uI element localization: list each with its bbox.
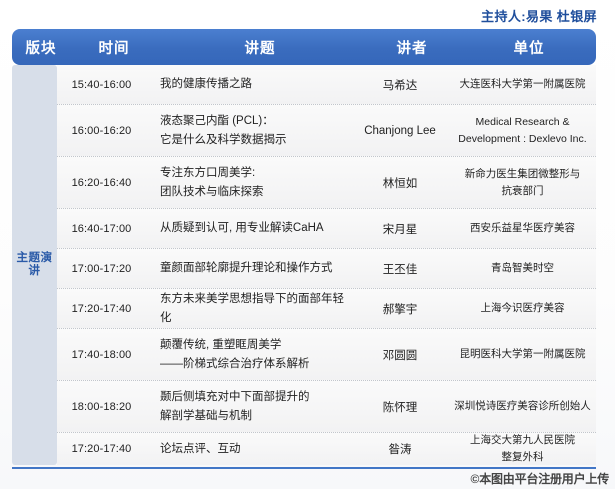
cell-speaker: Chanjong Lee xyxy=(351,125,449,137)
cell-unit-line1: 西安乐益星华医疗美容 xyxy=(449,220,596,237)
cell-speaker: 宋月星 xyxy=(351,221,449,237)
section-cell-label: 主题演讲 xyxy=(12,65,57,465)
column-header-speaker: 讲者 xyxy=(362,37,462,58)
schedule-rows: 15:40-16:00我的健康传播之路马希达大连医科大学第一附属医院16:00-… xyxy=(57,65,596,465)
cell-time: 17:00-17:20 xyxy=(57,263,146,275)
cell-unit-line2: 抗衰部门 xyxy=(449,183,596,200)
cell-unit-line2: Development : Dexlevo Inc. xyxy=(449,131,596,148)
cell-unit: 深圳悦诗医疗美容诊所创始人 xyxy=(449,398,596,415)
host-label: 主持人:易果 杜银屏 xyxy=(481,6,597,25)
cell-topic-line1: 颞后侧填充对中下面部提升的 xyxy=(160,388,351,407)
cell-time: 17:20-17:40 xyxy=(57,303,146,315)
cell-unit-line2: 整复外科 xyxy=(449,449,596,466)
cell-topic-line1: 我的健康传播之路 xyxy=(160,75,351,94)
cell-unit: Medical Research &Development : Dexlevo … xyxy=(449,114,596,148)
column-header-topic: 讲题 xyxy=(158,37,362,58)
cell-topic: 颠覆传统, 重塑眶周美学——阶梯式综合治疗体系解析 xyxy=(146,336,351,374)
cell-unit-line1: 昆明医科大学第一附属医院 xyxy=(449,346,596,363)
table-row: 17:20-17:40论坛点评、互动昝涛上海交大第九人民医院整复外科 xyxy=(57,433,596,465)
column-header-time: 时间 xyxy=(70,37,158,58)
cell-unit: 新命力医生集团微整形与抗衰部门 xyxy=(449,166,596,200)
cell-unit-line1: Medical Research & xyxy=(449,114,596,131)
column-header-section: 版块 xyxy=(12,37,70,58)
cell-topic: 论坛点评、互动 xyxy=(146,440,351,459)
cell-unit-line1: 上海交大第九人民医院 xyxy=(449,432,596,449)
cell-unit-line1: 新命力医生集团微整形与 xyxy=(449,166,596,183)
cell-unit: 上海今识医疗美容 xyxy=(449,300,596,317)
cell-topic: 从质疑到认可, 用专业解读CaHA xyxy=(146,219,351,238)
table-row: 15:40-16:00我的健康传播之路马希达大连医科大学第一附属医院 xyxy=(57,65,596,105)
cell-speaker: 昝涛 xyxy=(351,441,449,457)
cell-time: 17:40-18:00 xyxy=(57,349,146,361)
cell-topic-line1: 液态聚己内酯 (PCL)： xyxy=(160,112,351,131)
cell-topic-line2: 解剖学基础与机制 xyxy=(160,407,351,426)
table-row: 17:40-18:00颠覆传统, 重塑眶周美学——阶梯式综合治疗体系解析邓圆圆昆… xyxy=(57,329,596,381)
table-row: 18:00-18:20颞后侧填充对中下面部提升的解剖学基础与机制陈怀理深圳悦诗医… xyxy=(57,381,596,433)
cell-unit-line1: 青岛智美时空 xyxy=(449,260,596,277)
cell-topic-line1: 论坛点评、互动 xyxy=(160,440,351,459)
cell-topic-line1: 童颜面部轮廓提升理论和操作方式 xyxy=(160,259,351,278)
cell-topic: 童颜面部轮廓提升理论和操作方式 xyxy=(146,259,351,278)
cell-speaker: 郝擎宇 xyxy=(351,301,449,317)
table-row: 16:00-16:20液态聚己内酯 (PCL)：它是什么及科学数据揭示Chanj… xyxy=(57,105,596,157)
cell-time: 16:00-16:20 xyxy=(57,125,146,137)
cell-speaker: 马希达 xyxy=(351,77,449,93)
schedule-poster: 主持人:易果 杜银屏 版块 时间 讲题 讲者 单位 主题演讲 15:40-16:… xyxy=(0,0,615,489)
cell-topic-line1: 颠覆传统, 重塑眶周美学 xyxy=(160,336,351,355)
cell-topic-line2: ——阶梯式综合治疗体系解析 xyxy=(160,355,351,374)
cell-unit: 青岛智美时空 xyxy=(449,260,596,277)
cell-topic-line1: 东方未来美学思想指导下的面部年轻化 xyxy=(160,290,351,328)
cell-topic-line2: 它是什么及科学数据揭示 xyxy=(160,131,351,150)
cell-speaker: 陈怀理 xyxy=(351,399,449,415)
cell-speaker: 林恒如 xyxy=(351,175,449,191)
cell-topic: 东方未来美学思想指导下的面部年轻化 xyxy=(146,290,351,328)
table-row: 16:20-16:40专注东方口周美学:团队技术与临床探索林恒如新命力医生集团微… xyxy=(57,157,596,209)
cell-unit-line1: 上海今识医疗美容 xyxy=(449,300,596,317)
cell-time: 17:20-17:40 xyxy=(57,443,146,455)
cell-unit: 西安乐益星华医疗美容 xyxy=(449,220,596,237)
cell-topic-line2: 团队技术与临床探索 xyxy=(160,183,351,202)
cell-time: 18:00-18:20 xyxy=(57,401,146,413)
cell-unit-line1: 大连医科大学第一附属医院 xyxy=(449,76,596,93)
cell-unit-line1: 深圳悦诗医疗美容诊所创始人 xyxy=(449,398,596,415)
table-row: 17:00-17:20童颜面部轮廓提升理论和操作方式王丕佳青岛智美时空 xyxy=(57,249,596,289)
cell-topic: 专注东方口周美学:团队技术与临床探索 xyxy=(146,164,351,202)
cell-topic: 我的健康传播之路 xyxy=(146,75,351,94)
table-header-row: 版块 时间 讲题 讲者 单位 xyxy=(12,29,596,65)
table-row: 17:20-17:40东方未来美学思想指导下的面部年轻化郝擎宇上海今识医疗美容 xyxy=(57,289,596,329)
cell-topic-line1: 从质疑到认可, 用专业解读CaHA xyxy=(160,219,351,238)
cell-unit: 昆明医科大学第一附属医院 xyxy=(449,346,596,363)
cell-topic-line1: 专注东方口周美学: xyxy=(160,164,351,183)
cell-topic: 颞后侧填充对中下面部提升的解剖学基础与机制 xyxy=(146,388,351,426)
cell-unit: 上海交大第九人民医院整复外科 xyxy=(449,432,596,466)
cell-topic: 液态聚己内酯 (PCL)：它是什么及科学数据揭示 xyxy=(146,112,351,150)
watermark-text: ©本图由平台注册用户上传 xyxy=(471,470,609,487)
cell-time: 15:40-16:00 xyxy=(57,79,146,91)
cell-unit: 大连医科大学第一附属医院 xyxy=(449,76,596,93)
table-body: 主题演讲 15:40-16:00我的健康传播之路马希达大连医科大学第一附属医院1… xyxy=(12,65,596,465)
bottom-rule xyxy=(12,467,596,469)
table-row: 16:40-17:00从质疑到认可, 用专业解读CaHA宋月星西安乐益星华医疗美… xyxy=(57,209,596,249)
cell-time: 16:20-16:40 xyxy=(57,177,146,189)
cell-time: 16:40-17:00 xyxy=(57,223,146,235)
cell-speaker: 邓圆圆 xyxy=(351,347,449,363)
column-header-unit: 单位 xyxy=(462,37,596,58)
cell-speaker: 王丕佳 xyxy=(351,261,449,277)
